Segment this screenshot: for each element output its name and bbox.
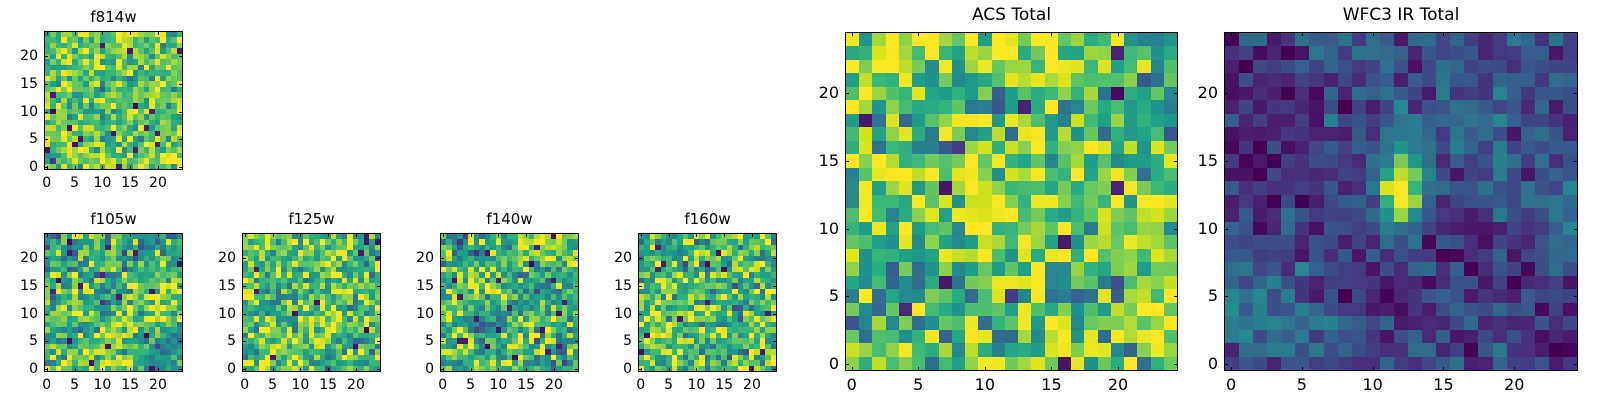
y-tick-right [773,258,777,259]
y-tick-right [773,286,777,287]
panel-title-f814w: f814w [44,10,183,25]
x-tick-top [443,233,444,237]
y-tick-label: 10 [819,221,839,237]
y-tick [638,258,642,259]
x-tick-top [245,233,246,237]
y-tick [242,314,246,315]
x-tick-label: 5 [70,176,79,190]
y-tick [44,258,48,259]
y-tick-right [179,314,183,315]
y-tick [44,341,48,342]
y-tick [44,369,48,370]
y-tick-right [1574,364,1578,365]
x-tick-label: 5 [70,378,79,392]
x-tick-label: 15 [1433,377,1453,393]
x-tick-label: 10 [489,378,507,392]
heatmap-f125w [242,233,381,372]
x-tick [985,367,986,371]
x-tick-top [47,31,48,35]
y-tick-label: 20 [614,251,632,265]
y-tick [638,341,642,342]
y-tick-label: 5 [623,334,632,348]
y-tick-label: 5 [425,334,434,348]
pixel-grid [243,234,380,371]
heatmap-acs-total [845,32,1178,371]
y-tick-label: 20 [1198,85,1218,101]
x-tick-top [641,233,642,237]
x-tick-top [985,32,986,36]
y-tick [845,229,849,230]
x-tick [102,368,103,372]
x-tick [1051,367,1052,371]
y-tick-label: 20 [20,251,38,265]
x-tick-label: 10 [93,176,111,190]
x-tick-top [273,233,274,237]
x-tick-label: 15 [1041,377,1061,393]
x-tick-label: 10 [975,377,995,393]
x-tick-top [1443,32,1444,36]
x-tick-top [130,233,131,237]
y-tick-label: 5 [829,288,839,304]
panel-f105w: f105w 0510152005101520 [44,210,183,395]
y-tick [1224,364,1228,365]
y-tick-label: 0 [425,362,434,376]
x-tick [102,166,103,170]
y-tick-right [179,84,183,85]
panel-wfc3-ir-total: WFC3 IR Total 0510152005101520 [1224,5,1578,400]
y-tick-label: 15 [819,153,839,169]
x-tick-label: 20 [149,176,167,190]
x-tick-top [471,233,472,237]
x-tick-top [130,31,131,35]
y-tick-right [1174,229,1178,230]
x-tick-label: 10 [93,378,111,392]
x-tick-top [498,233,499,237]
y-tick-right [1174,93,1178,94]
x-tick-label: 10 [291,378,309,392]
y-tick-right [377,258,381,259]
x-tick-label: 15 [121,176,139,190]
x-tick-label: 20 [149,378,167,392]
panel-f125w: f125w 0510152005101520 [242,210,381,395]
y-tick-label: 15 [614,279,632,293]
y-tick-right [1574,161,1578,162]
y-tick-label: 0 [1208,356,1218,372]
y-tick-label: 10 [20,105,38,119]
x-tick [130,368,131,372]
y-tick-label: 15 [218,279,236,293]
y-tick [44,112,48,113]
x-tick-top [696,233,697,237]
x-tick-top [724,233,725,237]
x-tick [918,367,919,371]
y-tick-label: 10 [20,307,38,321]
y-tick-label: 0 [829,356,839,372]
x-tick-top [918,32,919,36]
y-tick-right [1574,229,1578,230]
y-tick-right [773,341,777,342]
panel-title-f140w: f140w [440,212,579,227]
x-tick [158,368,159,372]
y-tick [44,314,48,315]
x-tick-top [328,233,329,237]
y-tick [440,258,444,259]
y-tick-right [575,369,579,370]
y-tick [440,314,444,315]
x-tick-label: 0 [42,378,51,392]
y-tick-label: 15 [416,279,434,293]
x-tick [1373,367,1374,371]
x-tick [273,368,274,372]
x-tick-top [102,233,103,237]
y-tick-label: 0 [623,362,632,376]
x-tick [130,166,131,170]
x-tick-label: 20 [1108,377,1128,393]
y-tick-label: 15 [1198,153,1218,169]
y-tick-right [377,286,381,287]
y-tick-label: 0 [227,362,236,376]
y-tick-right [377,341,381,342]
x-tick [526,368,527,372]
y-tick-right [1174,364,1178,365]
y-tick [638,286,642,287]
x-tick-label: 20 [545,378,563,392]
y-tick-label: 0 [29,362,38,376]
x-tick [696,368,697,372]
x-tick [1118,367,1119,371]
y-tick-label: 10 [416,307,434,321]
x-tick [356,368,357,372]
y-tick-label: 15 [20,77,38,91]
y-tick [440,341,444,342]
y-tick [1224,296,1228,297]
y-tick-right [773,314,777,315]
y-tick [1224,229,1228,230]
x-tick-label: 20 [1504,377,1524,393]
x-tick [498,368,499,372]
y-tick [1224,93,1228,94]
y-tick [440,369,444,370]
x-tick-label: 0 [240,378,249,392]
pixel-grid [639,234,776,371]
y-tick [1224,161,1228,162]
y-tick-right [773,369,777,370]
panel-title-f160w: f160w [638,212,777,227]
x-tick-top [752,233,753,237]
pixel-grid [846,33,1177,370]
y-tick [242,341,246,342]
y-tick [242,258,246,259]
y-tick-label: 10 [1198,221,1218,237]
x-tick-top [1302,32,1303,36]
x-tick [75,166,76,170]
x-tick-label: 15 [517,378,535,392]
y-tick [44,56,48,57]
x-tick-label: 10 [687,378,705,392]
x-tick [1514,367,1515,371]
y-tick-label: 5 [1208,288,1218,304]
y-tick-label: 10 [614,307,632,321]
panel-f140w: f140w 0510152005101520 [440,210,579,395]
x-tick-top [158,31,159,35]
x-tick-label: 0 [438,378,447,392]
y-tick-label: 5 [227,334,236,348]
panel-title-f125w: f125w [242,212,381,227]
x-tick-top [300,233,301,237]
y-tick-right [575,341,579,342]
x-tick-label: 5 [268,378,277,392]
x-tick-label: 20 [743,378,761,392]
y-tick [44,167,48,168]
x-tick-top [102,31,103,35]
y-tick-right [179,258,183,259]
x-tick-top [75,233,76,237]
x-tick-top [75,31,76,35]
y-tick [638,314,642,315]
y-tick-right [575,314,579,315]
heatmap-wfc3-ir-total [1224,32,1578,371]
y-tick-right [1574,296,1578,297]
y-tick [44,139,48,140]
y-tick [845,93,849,94]
pixel-grid [45,32,182,169]
x-tick [554,368,555,372]
x-tick-top [669,233,670,237]
y-tick-right [179,56,183,57]
x-tick-top [1051,32,1052,36]
y-tick-label: 20 [218,251,236,265]
x-tick-top [526,233,527,237]
x-tick-top [1231,32,1232,36]
y-tick-right [377,369,381,370]
x-tick-label: 5 [913,377,923,393]
y-tick-right [1174,161,1178,162]
heatmap-f160w [638,233,777,372]
pixel-grid [441,234,578,371]
heatmap-f814w [44,31,183,170]
y-tick-right [575,286,579,287]
x-tick-top [158,233,159,237]
x-tick-label: 5 [1297,377,1307,393]
panel-title-wfc3-ir-total: WFC3 IR Total [1224,7,1578,24]
y-tick-right [179,112,183,113]
x-tick [752,368,753,372]
y-tick [242,369,246,370]
y-tick-label: 20 [20,49,38,63]
x-tick [852,367,853,371]
x-tick [300,368,301,372]
x-tick [724,368,725,372]
y-tick-right [179,369,183,370]
y-tick [44,286,48,287]
x-tick-label: 15 [319,378,337,392]
y-tick [242,286,246,287]
x-tick [1302,367,1303,371]
x-tick-top [852,32,853,36]
x-tick-label: 0 [636,378,645,392]
x-tick-label: 5 [664,378,673,392]
x-tick [669,368,670,372]
y-tick [845,161,849,162]
x-tick-top [47,233,48,237]
x-tick [328,368,329,372]
x-tick-label: 0 [847,377,857,393]
x-tick-label: 0 [1226,377,1236,393]
y-tick [440,286,444,287]
x-tick [471,368,472,372]
panel-acs-total: ACS Total 0510152005101520 [845,5,1178,400]
x-tick [75,368,76,372]
x-tick-label: 5 [466,378,475,392]
x-tick-label: 15 [715,378,733,392]
x-tick-label: 10 [1362,377,1382,393]
y-tick-right [1574,93,1578,94]
y-tick [845,364,849,365]
y-tick-right [179,167,183,168]
heatmap-f140w [440,233,579,372]
pixel-grid [45,234,182,371]
x-tick-top [554,233,555,237]
y-tick-label: 10 [218,307,236,321]
x-tick-top [356,233,357,237]
y-tick [845,296,849,297]
y-tick-label: 20 [416,251,434,265]
x-tick-top [1118,32,1119,36]
y-tick-label: 20 [819,85,839,101]
panel-f160w: f160w 0510152005101520 [638,210,777,395]
y-tick-right [575,258,579,259]
y-tick-right [179,286,183,287]
y-tick [638,369,642,370]
y-tick [44,84,48,85]
x-tick-label: 0 [42,176,51,190]
y-tick-right [377,314,381,315]
x-tick [1231,367,1232,371]
x-tick-label: 20 [347,378,365,392]
panel-title-f105w: f105w [44,212,183,227]
y-tick-label: 5 [29,334,38,348]
y-tick-label: 5 [29,132,38,146]
y-tick-label: 0 [29,160,38,174]
heatmap-f105w [44,233,183,372]
y-tick-right [179,139,183,140]
panel-title-acs-total: ACS Total [845,7,1178,24]
figure-canvas: f814w 0510152005101520 f105w 05101520051… [0,0,1600,400]
y-tick-right [179,341,183,342]
y-tick-right [1174,296,1178,297]
x-tick-top [1514,32,1515,36]
pixel-grid [1225,33,1577,370]
x-tick [1443,367,1444,371]
panel-f814w: f814w 0510152005101520 [44,8,183,193]
y-tick-label: 15 [20,279,38,293]
x-tick-label: 15 [121,378,139,392]
x-tick-top [1373,32,1374,36]
x-tick [158,166,159,170]
